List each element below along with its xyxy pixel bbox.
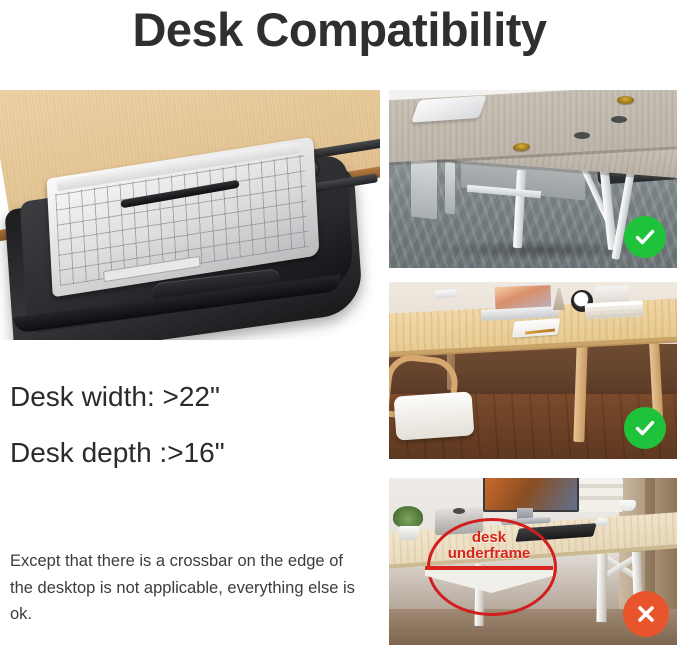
status-badge-compatible [624, 407, 666, 449]
monitor-screen [483, 478, 579, 512]
office-desk-photo [389, 90, 677, 268]
phone [435, 289, 457, 298]
chair-seat-cushion [394, 391, 475, 440]
wooden-desk-photo [389, 282, 677, 459]
potted-plant [393, 506, 423, 528]
status-badge-incompatible [623, 591, 669, 637]
left-column: Desk width: >22" Desk depth :>16" Except… [0, 90, 380, 645]
desk-leg [596, 554, 607, 622]
mini-pc-vent [453, 508, 465, 514]
check-icon [633, 225, 657, 249]
cable-grommet [617, 96, 634, 104]
underframe-callout-line-1: desk [427, 530, 551, 546]
coffee-cup [619, 500, 636, 511]
computer-tower [445, 161, 455, 214]
compatibility-note: Except that there is a crossbar on the e… [10, 548, 358, 628]
spec-desk-depth: Desk depth :>16" [10, 439, 380, 467]
cable-hole [611, 116, 627, 123]
page-title: Desk Compatibility [0, 2, 679, 57]
x-icon [634, 602, 658, 626]
right-column: desk underframe [389, 90, 677, 645]
computer-tower [411, 154, 437, 219]
plant-pot [399, 526, 419, 540]
keyboard-tray-photo [0, 90, 380, 340]
check-icon [633, 416, 657, 440]
underframe-callout-label: desk underframe [427, 530, 551, 562]
status-badge-compatible [624, 216, 666, 258]
paper-tray-shelf [579, 478, 623, 512]
underframe-desk-photo: desk underframe [389, 478, 677, 645]
cable-hole [574, 132, 590, 139]
mouse [595, 518, 609, 527]
underframe-callout-line-2: underframe [427, 546, 551, 562]
desk-spec-list: Desk width: >22" Desk depth :>16" [10, 383, 380, 495]
spec-desk-width: Desk width: >22" [10, 383, 380, 411]
book-stack [585, 300, 644, 319]
